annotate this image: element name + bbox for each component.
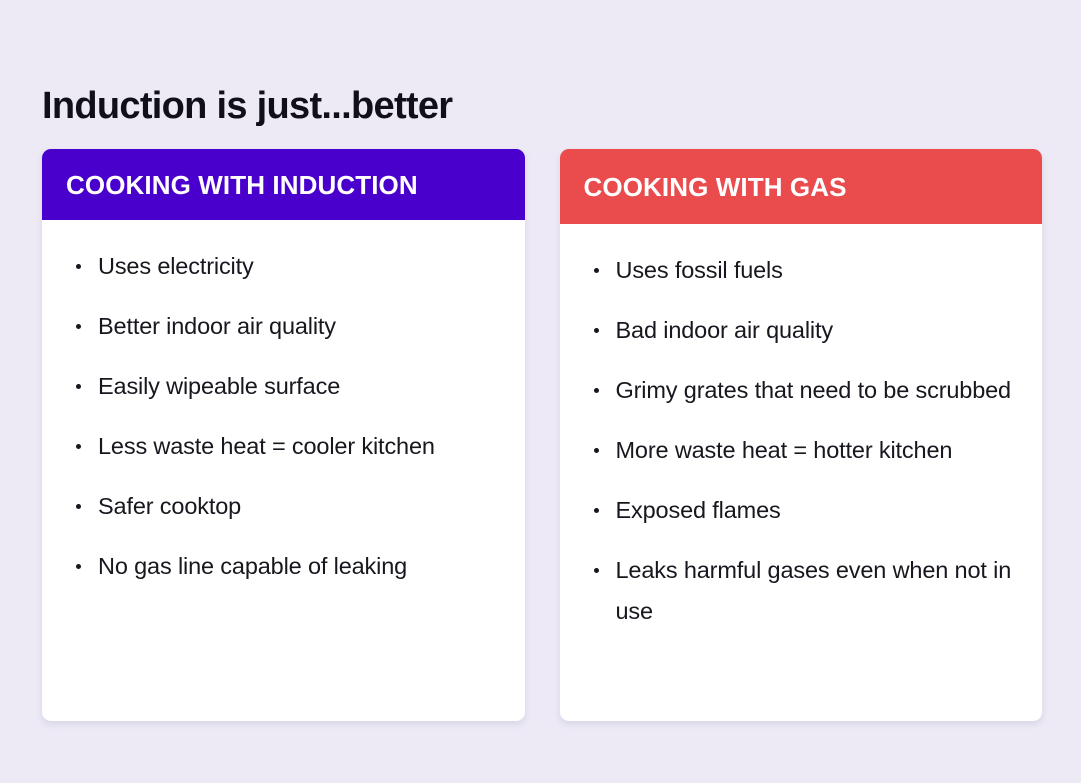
bullet-dot-icon [594,268,599,273]
bullet-dot-icon [594,388,599,393]
list-item: Safer cooktop [70,486,497,527]
bullet-dot-icon [76,504,81,509]
bullet-dot-icon [76,564,81,569]
list-item-label: Safer cooktop [98,486,497,527]
card-header-title-induction: COOKING WITH INDUCTION [66,169,501,201]
list-item: Uses fossil fuels [588,250,1015,291]
list-item-label: Better indoor air quality [98,306,497,347]
list-item: More waste heat = hotter kitchen [588,430,1015,471]
bullet-dot-icon [594,508,599,513]
list-item-label: Exposed flames [616,490,1015,531]
bullet-dot-icon [594,448,599,453]
list-item: Easily wipeable surface [70,366,497,407]
list-item: No gas line capable of leaking [70,546,497,587]
list-item-label: Easily wipeable surface [98,366,497,407]
comparison-cards-container: COOKING WITH INDUCTION Uses electricity … [42,149,1042,721]
list-item-label: Leaks harmful gases even when not in use [616,550,1015,632]
list-item: Grimy grates that need to be scrubbed [588,370,1015,411]
bullet-dot-icon [594,568,599,573]
list-item: Bad indoor air quality [588,310,1015,351]
list-item-label: Uses electricity [98,246,497,287]
card-cooking-with-induction: COOKING WITH INDUCTION Uses electricity … [42,149,525,721]
bullet-dot-icon [76,324,81,329]
card-header-induction: COOKING WITH INDUCTION [42,149,525,220]
list-item: Leaks harmful gases even when not in use [588,550,1015,632]
card-header-title-gas: COOKING WITH GAS [584,171,1019,203]
list-item: Exposed flames [588,490,1015,531]
list-item-label: No gas line capable of leaking [98,546,497,587]
bullet-list-induction: Uses electricity Better indoor air quali… [70,246,497,587]
comparison-infographic: Induction is just...better COOKING WITH … [0,0,1081,783]
bullet-list-gas: Uses fossil fuels Bad indoor air quality… [588,250,1015,632]
list-item-label: Bad indoor air quality [616,310,1015,351]
bullet-dot-icon [76,444,81,449]
list-item: Better indoor air quality [70,306,497,347]
card-header-gas: COOKING WITH GAS [560,149,1043,224]
list-item-label: Less waste heat = cooler kitchen [98,426,497,467]
list-item: Less waste heat = cooler kitchen [70,426,497,467]
card-body-induction: Uses electricity Better indoor air quali… [42,220,525,721]
bullet-dot-icon [76,384,81,389]
card-body-gas: Uses fossil fuels Bad indoor air quality… [560,224,1043,721]
list-item-label: More waste heat = hotter kitchen [616,430,1015,471]
list-item-label: Uses fossil fuels [616,250,1015,291]
bullet-dot-icon [594,328,599,333]
bullet-dot-icon [76,264,81,269]
page-title: Induction is just...better [42,83,452,129]
card-cooking-with-gas: COOKING WITH GAS Uses fossil fuels Bad i… [560,149,1043,721]
list-item-label: Grimy grates that need to be scrubbed [616,370,1015,411]
list-item: Uses electricity [70,246,497,287]
